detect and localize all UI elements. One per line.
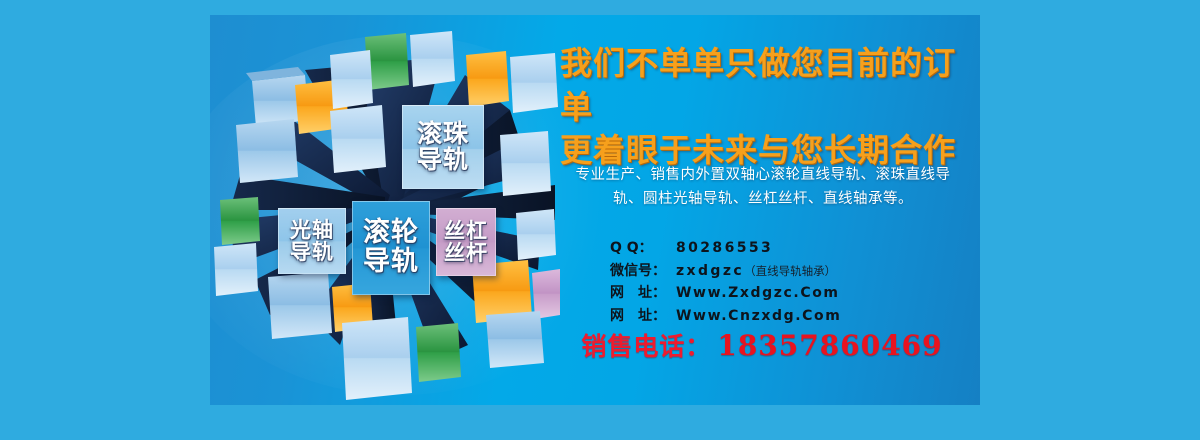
label-line-2: 导轨 <box>363 248 419 277</box>
website-1-value[interactable]: Www.Zxdgzc.Com <box>676 282 840 305</box>
headline-line-1: 我们不单单只做您目前的订单 <box>560 44 956 126</box>
cube-blue-top-mid <box>330 50 373 109</box>
contact-block: Q Q： 80286553 微信号： zxdgzc （直线导轨轴承） 网 址： … <box>610 237 980 328</box>
description-text: 专业生产、销售内外置双轴心滚轮直线导轨、滚珠直线导轨、圆柱光轴导轨、丝杠丝杆、直… <box>564 163 962 211</box>
cube-blue-top-right <box>410 31 455 87</box>
promo-banner: 滚珠 导轨 光轴 导轨 滚轮 导轨 丝杠 丝杆 我们不单单只做您目前的订单 更着… <box>210 15 980 405</box>
label-line-1: 滚轮 <box>363 219 419 248</box>
contact-row-qq: Q Q： 80286553 <box>610 237 980 260</box>
label-box-sigang-sigan: 丝杠 丝杆 <box>436 208 496 276</box>
label-line-1: 丝杠 <box>444 220 488 242</box>
label-line-2: 丝杆 <box>444 242 488 264</box>
contact-row-wechat: 微信号： zxdgzc （直线导轨轴承） <box>610 260 980 283</box>
cube-green-left <box>220 197 260 245</box>
banner-page: 滚珠 导轨 光轴 导轨 滚轮 导轨 丝杠 丝杆 我们不单单只做您目前的订单 更着… <box>0 0 1200 440</box>
cube-blue-lower-left2 <box>268 272 332 339</box>
label-line-2: 导轨 <box>417 147 469 174</box>
label-line-1: 光轴 <box>290 219 334 241</box>
sales-phone-label: 销售电话： <box>581 327 711 363</box>
website-2-value[interactable]: Www.Cnzxdg.Com <box>676 305 841 328</box>
sales-phone-number[interactable]: 18357860469 <box>717 329 942 362</box>
cube-green-bottom <box>416 323 461 382</box>
qq-label: Q Q： <box>610 237 676 260</box>
cube-blue-center-upper <box>330 105 386 173</box>
cube-blue-right-mid <box>500 131 551 196</box>
banner-content: 我们不单单只做您目前的订单 更着眼于未来与您长期合作 专业生产、销售内外置双轴心… <box>550 15 980 405</box>
cube-blue-bottom-center <box>342 317 412 400</box>
label-line-1: 滚珠 <box>417 121 469 148</box>
cube-orange-right-top <box>466 51 509 107</box>
label-box-guangzhou-daogui: 光轴 导轨 <box>278 208 346 274</box>
sales-phone: 销售电话： 18357860469 <box>532 327 980 363</box>
contact-row-website-2: 网 址： Www.Cnzxdg.Com <box>610 305 980 328</box>
label-box-gunlun-daogui: 滚轮 导轨 <box>352 201 430 295</box>
label-line-2: 导轨 <box>290 241 334 263</box>
wechat-value: zxdgzc <box>676 260 744 283</box>
wechat-note: （直线导轨轴承） <box>744 262 836 281</box>
website-1-label: 网 址： <box>610 282 676 305</box>
contact-row-website-1: 网 址： Www.Zxdgzc.Com <box>610 282 980 305</box>
cube-blue-lower-left <box>214 243 258 296</box>
qq-value: 80286553 <box>676 237 773 260</box>
cube-blue-left-mid <box>236 119 298 183</box>
wechat-label: 微信号： <box>610 260 676 283</box>
label-box-gunzhu-daogui: 滚珠 导轨 <box>402 105 484 189</box>
headline: 我们不单单只做您目前的订单 更着眼于未来与您长期合作 <box>560 42 980 173</box>
website-2-label: 网 址： <box>610 305 676 328</box>
